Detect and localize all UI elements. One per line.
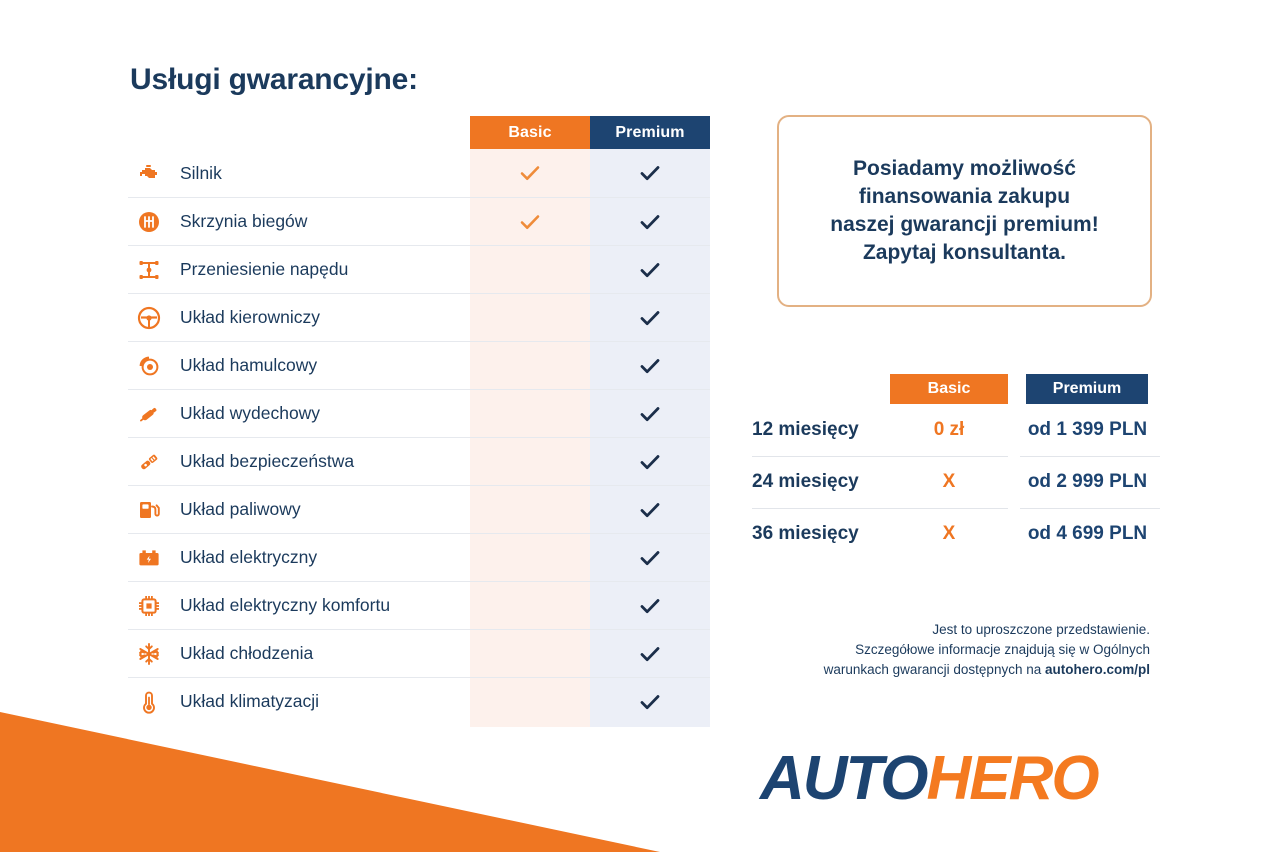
table-row: Układ chłodzenia [128,629,710,677]
footnote-line-2: Szczegółowe informacje znajdują się w Og… [680,640,1150,660]
service-label: Silnik [180,163,222,184]
promo-line-3: naszej gwarancji premium! [830,211,1098,239]
seatbelt-icon [132,450,166,474]
basic-empty [470,342,590,390]
basic-empty [470,294,590,342]
pricing-row: 36 miesięcy X od 4 699 PLN [752,508,1162,560]
pricing-header-basic[interactable]: Basic [890,374,1008,404]
basic-empty [470,678,590,726]
premium-check [590,486,710,534]
promo-line-2: finansowania zakupu [830,183,1098,211]
comparison-header-row: Basic Premium [470,116,710,149]
service-label: Układ bezpieczeństwa [180,451,354,472]
basic-empty [470,534,590,582]
logo-hero: HERO [927,744,1098,813]
steering-wheel-icon [132,306,166,330]
table-row: Układ klimatyzacji [128,677,710,725]
thermometer-icon [132,690,166,714]
pricing-term: 24 miesięcy [752,456,859,508]
footnote-line-3-prefix: warunkach gwarancji dostępnych na [824,662,1045,677]
premium-check [590,390,710,438]
pricing-value-premium: od 4 699 PLN [1020,508,1155,560]
footnote-line-1: Jest to uproszczone przedstawienie. [680,620,1150,640]
basic-check [470,198,590,246]
battery-icon [132,546,166,570]
premium-check [590,342,710,390]
pricing-value-premium: od 1 399 PLN [1020,404,1155,456]
table-row: Układ wydechowy [128,389,710,437]
basic-check [470,149,590,197]
basic-empty [470,582,590,630]
engine-icon [132,161,166,185]
promo-line-1: Posiadamy możliwość [830,155,1098,183]
autohero-link[interactable]: autohero.com/pl [1045,662,1150,677]
pricing-table: Basic Premium 12 miesięcy 0 zł od 1 399 … [752,374,1162,560]
basic-empty [470,630,590,678]
table-row: Układ hamulcowy [128,341,710,389]
financing-callout-box: Posiadamy możliwość finansowania zakupu … [777,115,1152,307]
table-row: Układ elektryczny [128,533,710,581]
pricing-term: 12 miesięcy [752,404,859,456]
premium-check [590,438,710,486]
premium-check [590,678,710,726]
table-row: Układ bezpieczeństwa [128,437,710,485]
service-label: Układ elektryczny komfortu [180,595,390,616]
service-label: Przeniesienie napędu [180,259,348,280]
premium-check [590,198,710,246]
pricing-term: 36 miesięcy [752,508,859,560]
poster-canvas: Usługi gwarancyjne: Basic Premium Silnik [0,0,1280,852]
table-row: Przeniesienie napędu [128,245,710,293]
service-label: Układ paliwowy [180,499,301,520]
pricing-header-row: Basic Premium [752,374,1162,404]
service-label: Układ klimatyzacji [180,691,319,712]
premium-check [590,534,710,582]
pricing-value-premium: od 2 999 PLN [1020,456,1155,508]
autohero-logo: AUTOHERO [760,748,1098,810]
logo-auto: AUTO [760,744,927,813]
service-label: Układ chłodzenia [180,643,313,664]
table-row: Skrzynia biegów [128,197,710,245]
service-label: Układ elektryczny [180,547,317,568]
column-header-basic[interactable]: Basic [470,116,590,149]
service-label: Układ hamulcowy [180,355,317,376]
service-label: Skrzynia biegów [180,211,307,232]
premium-check [590,246,710,294]
table-row: Układ kierowniczy [128,293,710,341]
basic-empty [470,246,590,294]
table-row: Silnik [128,149,710,197]
page-title: Usługi gwarancyjne: [130,63,418,97]
disclaimer-footnote: Jest to uproszczone przedstawienie. Szcz… [680,620,1150,680]
chip-icon [132,594,166,618]
exhaust-icon [132,402,166,426]
pricing-value-basic: X [890,456,1008,508]
service-label: Układ kierowniczy [180,307,320,328]
column-header-premium[interactable]: Premium [590,116,710,149]
basic-empty [470,438,590,486]
pricing-header-premium[interactable]: Premium [1026,374,1148,404]
table-row: Układ paliwowy [128,485,710,533]
promo-line-4: Zapytaj konsultanta. [830,239,1098,267]
table-row: Układ elektryczny komfortu [128,581,710,629]
footnote-line-3: warunkach gwarancji dostępnych na autohe… [680,660,1150,680]
pricing-value-basic: 0 zł [890,404,1008,456]
pricing-value-basic: X [890,508,1008,560]
snowflake-icon [132,642,166,666]
basic-empty [470,390,590,438]
premium-check [590,149,710,197]
pricing-row: 12 miesięcy 0 zł od 1 399 PLN [752,404,1162,456]
premium-check [590,294,710,342]
basic-empty [470,486,590,534]
drivetrain-icon [132,258,166,282]
pricing-row: 24 miesięcy X od 2 999 PLN [752,456,1162,508]
gearbox-icon [132,210,166,234]
service-label: Układ wydechowy [180,403,320,424]
brake-disc-icon [132,354,166,378]
comparison-rows: Silnik Skrzynia bi [128,149,710,725]
fuel-pump-icon [132,498,166,522]
financing-callout-text: Posiadamy możliwość finansowania zakupu … [816,155,1112,268]
